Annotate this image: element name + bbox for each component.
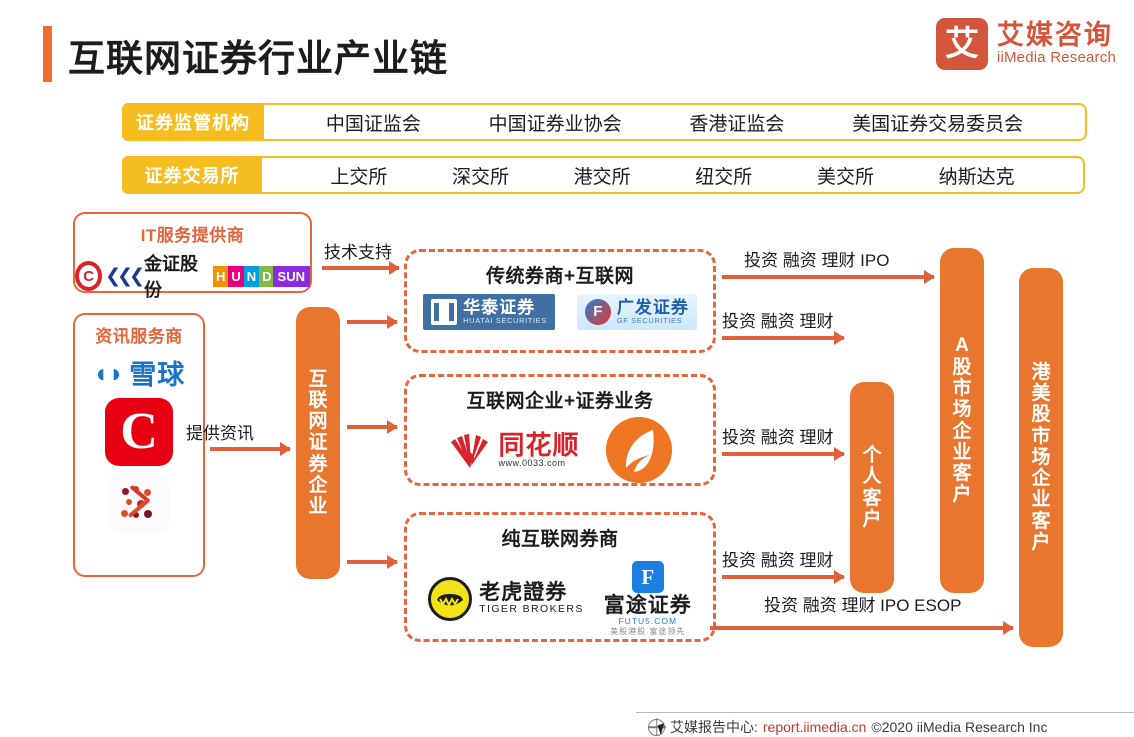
arrow-trad-to-personal [722,336,844,340]
logo-xueqiu: ◖◗ 雪球 [93,353,185,392]
center-bar-char: 券 [308,454,327,475]
logo-gf-securities: F 广发证券 GF SECURITIES [577,294,697,330]
regulator-row-authorities: 证券监管机构 中国证监会 中国证券业协会 香港证监会 美国证券交易委员会 [122,103,1087,141]
center-bar-char: 业 [308,496,327,517]
customer-char: 户 [862,509,881,530]
hundsun-h: H [213,266,228,287]
center-bar-char: 证 [308,432,327,453]
customer-char: 业 [1031,489,1050,510]
customer-char: 个 [862,445,881,466]
footer: 艾媒报告中心: report.iimedia.cn ©2020 iiMedia … [648,717,1047,737]
brand-logo: 艾 艾媒咨询 iiMedia Research [936,18,1116,70]
customer-char: 客 [862,488,881,509]
regulator-item: 香港证监会 [689,109,784,136]
arrow-label-pure-to-personal: 投资 融资 理财 [722,546,833,571]
hundsun-sun: SUN [273,266,310,287]
arrow-center-to-pure [347,560,397,564]
arrow-label-provide-info: 提供资讯 [186,419,254,444]
tiger-label-cn: 老虎證券 [479,582,584,604]
customer-char: 企 [1031,468,1050,489]
xueqiu-label: 雪球 [129,353,185,392]
segment-traditional-brokers: 传统券商+互联网 华泰证券 HUATAI SECURITIES F 广发证券 G… [404,249,716,353]
arrow-label-internet-to-personal: 投资 融资 理财 [722,423,833,448]
brand-text: 艾媒咨询 iiMedia Research [997,21,1116,67]
exchange-item: 深交所 [452,162,509,189]
infographic-page: 互联网证券行业产业链 艾 艾媒咨询 iiMedia Research 证券监管机… [0,0,1134,737]
tonghuashun-label-cn: 同花顺 [498,432,579,459]
jinzheng-label: 金证股份 [144,250,207,302]
gf-label-cn: 广发证券 [617,299,689,317]
futu-tagline: 美股港股 富途领先 [610,628,685,636]
customer-char: 市 [952,378,971,399]
customer-char: 客 [952,463,971,484]
tiger-coin-icon [428,577,472,621]
customer-bar-a-share: A 股 市 场 企 业 客 户 [940,248,984,593]
gf-mark-icon: F [585,299,611,325]
center-bar-char: 网 [308,411,327,432]
box-information-service-providers: 资讯服务商 ◖◗ 雪球 C [73,313,205,577]
row-label-exchanges: 证券交易所 [122,156,262,194]
exchange-item: 港交所 [574,162,631,189]
arrow-pure-to-hk-us [710,626,1013,630]
huatai-label-cn: 华泰证券 [463,299,547,317]
gf-label-en: GF SECURITIES [617,317,689,325]
hundsun-u: U [228,266,243,287]
exchange-item: 美交所 [817,162,874,189]
xueqiu-mark-icon: ◖◗ [93,360,124,386]
footer-divider [636,712,1134,713]
logo-dongfangcaifu [606,417,672,483]
exchange-item: 上交所 [330,162,387,189]
hundsun-n: N [244,266,259,287]
customer-char: 客 [1031,511,1050,532]
customer-char: 美 [1031,383,1050,404]
futu-label-en: FUTU5.COM [618,617,677,626]
exchange-item: 纳斯达克 [939,162,1015,189]
customer-char: 户 [952,484,971,505]
footer-copyright: ©2020 iiMedia Research Inc [871,719,1047,735]
logo-futu-securities: F 富途证券 FUTU5.COM 美股港股 富途领先 [604,561,692,637]
customer-char: 港 [1031,362,1050,383]
logo-cailianshe: C [105,398,173,466]
customer-char: 业 [952,442,971,463]
arrow-trad-to-a-share [722,275,934,279]
center-bar-char: 企 [308,475,327,496]
arrow-label-pure-to-hk-us: 投资 融资 理财 IPO ESOP [764,591,961,616]
tonghuashun-url: www.0033.com [498,459,579,468]
footer-prefix: 艾媒报告中心: [670,717,758,737]
segment-title-pure-internet: 纯互联网券商 [407,524,713,551]
row-values-regulators: 中国证监会 中国证券业协会 香港证监会 美国证券交易委员会 [264,103,1087,141]
segment-title-internet: 互联网企业+证券业务 [407,386,713,413]
tiger-label-en: TIGER BROKERS [479,604,584,615]
regulator-item: 中国证券业协会 [489,109,622,136]
customer-char: 场 [952,399,971,420]
tonghuashun-fan-icon [448,430,492,470]
logo-tonghuashun: 同花顺 www.0033.com [448,430,579,470]
brand-name-en: iiMedia Research [997,49,1116,67]
arrow-label-trad-to-personal: 投资 融资 理财 [722,307,833,332]
arrow-center-to-traditional [347,320,397,324]
regulator-item: 美国证券交易委员会 [852,109,1023,136]
customer-char: 户 [1031,532,1050,553]
huatai-mark-icon [431,299,457,325]
customer-char: 企 [952,421,971,442]
segment-internet-enterprises: 互联网企业+证券业务 同花顺 [404,374,716,486]
footer-link[interactable]: report.iimedia.cn [763,719,867,735]
logo-tiger-brokers: 老虎證券 TIGER BROKERS [428,577,584,621]
center-bar-char: 联 [308,390,327,411]
customer-char: A [955,335,969,356]
customer-char: 场 [1031,447,1050,468]
brand-name-cn: 艾媒咨询 [997,21,1116,49]
segment-pure-internet-brokers: 纯互联网券商 老虎證券 TIGER BROKERS F 富途证券 FUTU5.C… [404,512,716,642]
regulator-row-exchanges: 证券交易所 上交所 深交所 港交所 纽交所 美交所 纳斯达克 [122,156,1085,194]
arrow-internet-to-personal [722,452,844,456]
box-it-service-providers: IT服务提供商 C ❮❮❮ 金证股份 H U N D SUN [73,212,312,293]
exchange-item: 纽交所 [695,162,752,189]
arrow-label-tech-support: 技术支持 [324,238,392,263]
arrow-pure-to-personal [722,575,844,579]
row-label-regulators: 证券监管机构 [122,103,264,141]
arrow-label-trad-to-a-share: 投资 融资 理财 IPO [744,246,889,271]
arrow-tech-support [322,266,399,270]
box-title-it-service: IT服务提供商 [75,221,310,246]
center-bar-char: 互 [308,369,327,390]
logo-jinzheng: C ❮❮❮ 金证股份 [75,250,207,302]
page-title: 互联网证券行业产业链 [68,28,448,82]
logo-huatai-securities: 华泰证券 HUATAI SECURITIES [423,294,555,330]
logo-hundsun: H U N D SUN [213,266,310,287]
futu-mark-icon: F [632,561,664,593]
customer-char: 市 [1031,426,1050,447]
segment-title-traditional: 传统券商+互联网 [407,261,713,288]
arrow-center-to-internet [347,425,397,429]
center-bar-internet-securities-enterprise: 互 联 网 证 券 企 业 [296,307,340,579]
logo-wind [108,472,170,534]
customer-bar-personal: 个 人 客 户 [850,382,894,593]
arrow-provide-info [210,447,290,451]
regulator-item: 中国证监会 [326,109,421,136]
jinzheng-chevron-icon: ❮❮❮ [105,265,141,288]
customer-bar-hk-us: 港 美 股 市 场 企 业 客 户 [1019,268,1063,647]
huatai-label-en: HUATAI SECURITIES [463,317,547,325]
customer-char: 股 [1031,404,1050,425]
box-title-info-service: 资讯服务商 [75,322,203,347]
futu-label-cn: 富途证券 [604,595,692,617]
title-accent-bar [43,26,52,82]
row-values-exchanges: 上交所 深交所 港交所 纽交所 美交所 纳斯达克 [262,156,1085,194]
brand-mark-icon: 艾 [936,18,988,70]
customer-char: 人 [862,466,881,487]
jinzheng-ring-icon: C [75,261,102,291]
customer-char: 股 [952,357,971,378]
